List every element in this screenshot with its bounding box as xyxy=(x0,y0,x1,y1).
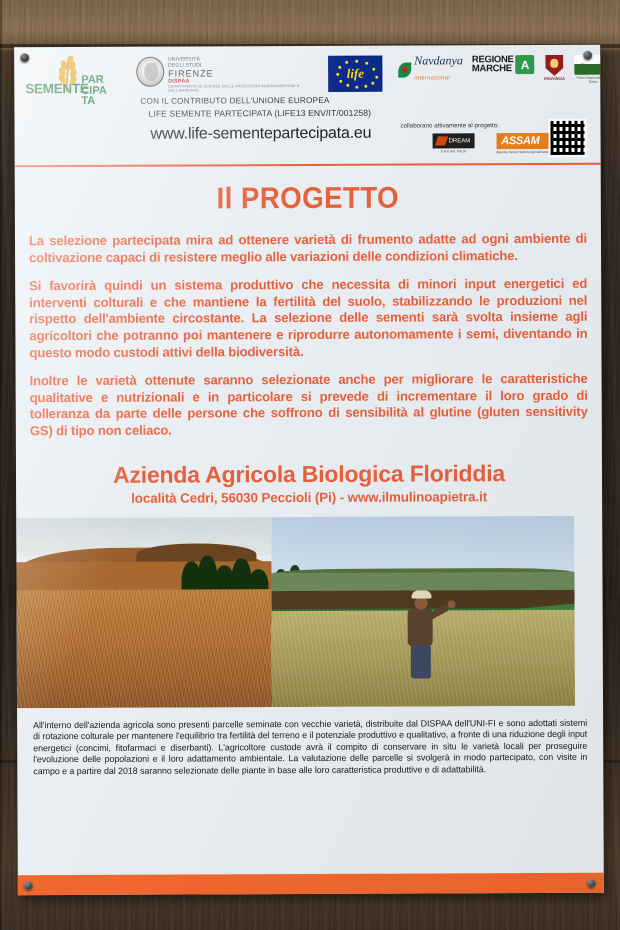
dream-caption: D.R.E.AM. ITALIA xyxy=(433,149,475,153)
farm-address[interactable]: località Cedri, 56030 Peccioli (Pi) - ww… xyxy=(30,488,588,505)
parco-label: Parco Nazionale Gran Sasso xyxy=(574,76,604,84)
dream-mark-icon xyxy=(435,136,448,145)
bottom-orange-bar xyxy=(18,873,604,896)
partner-dream: DREAM D.R.E.AM. ITALIA xyxy=(433,133,475,153)
poster-header: SEMENTE PAR CIPA TA xyxy=(14,45,601,166)
project-logo: SEMENTE PAR CIPA TA xyxy=(24,55,120,111)
screw-icon xyxy=(583,51,592,60)
shield-icon xyxy=(545,55,563,76)
page-title: Il PROGETTO xyxy=(51,181,565,217)
footer-paragraph: All'interno dell'azienda agricola sono p… xyxy=(33,717,587,777)
unifi-dept-full: DIPARTIMENTO DI SCIENZE DELLE PRODUZIONI… xyxy=(168,84,318,93)
partner-navdanya: Navdanya international xyxy=(398,55,463,84)
farmer-figure xyxy=(398,590,444,682)
poster-footer: All'interno dell'azienda agricola sono p… xyxy=(17,705,603,784)
photo-strip xyxy=(16,515,603,708)
partner-regione-marche: REGIONEMARCHE A xyxy=(472,55,535,74)
paragraph-1: La selezione partecipata mira ad ottener… xyxy=(29,231,587,267)
eu-contribution-text: CON IL CONTRIBUTO DELL'UNIONE EUROPEA xyxy=(140,96,382,106)
poster-body: Il PROGETTO La selezione partecipata mir… xyxy=(15,181,602,506)
eu-life-logo: life xyxy=(328,56,382,92)
screw-icon xyxy=(587,879,596,888)
screenshot-stage: SEMENTE PAR CIPA TA xyxy=(0,0,620,930)
navdanya-sub: international xyxy=(414,75,450,81)
ripe-wheat-field-photo xyxy=(16,517,272,708)
farm-name: Azienda Agricola Biologica Floriddia xyxy=(30,459,588,488)
project-code-text: LIFE SEMENTE PARTECIPATA (LIFE13 ENV/IT/… xyxy=(148,108,382,119)
regione-marche-label: REGIONEMARCHE xyxy=(472,56,514,73)
dream-label: DREAM xyxy=(449,138,471,144)
paragraph-2: Si favorirà quindi un sistema produttivo… xyxy=(29,276,587,361)
farmer-in-field-photo xyxy=(271,515,575,706)
paragraph-3: Inoltre le varietà ottenute saranno sele… xyxy=(30,371,588,440)
partner-provincia: PROVINCIA xyxy=(544,55,566,81)
regione-badge: A xyxy=(516,55,535,74)
unifi-logo: UNIVERSITÀ DEGLI STUDI FIRENZE DISPAA DI… xyxy=(136,56,318,93)
screw-icon xyxy=(24,881,33,890)
qr-code-icon[interactable] xyxy=(548,119,586,157)
navdanya-name: Navdanya xyxy=(414,55,463,66)
project-website[interactable]: www.life-sementepartecipata.eu xyxy=(150,125,382,144)
unifi-crest-icon xyxy=(136,57,164,87)
life-label: life xyxy=(347,66,364,82)
leaf-icon xyxy=(398,63,411,78)
farm-block: Azienda Agricola Biologica Floriddia loc… xyxy=(30,459,588,505)
information-poster[interactable]: SEMENTE PAR CIPA TA xyxy=(14,45,604,896)
unifi-line3: FIRENZE xyxy=(168,68,318,79)
provincia-label: PROVINCIA xyxy=(544,77,566,81)
screw-icon xyxy=(20,53,29,62)
logo-word-semente: SEMENTE xyxy=(25,81,88,96)
logo-word-partecipata: PAR CIPA TA xyxy=(81,75,107,107)
